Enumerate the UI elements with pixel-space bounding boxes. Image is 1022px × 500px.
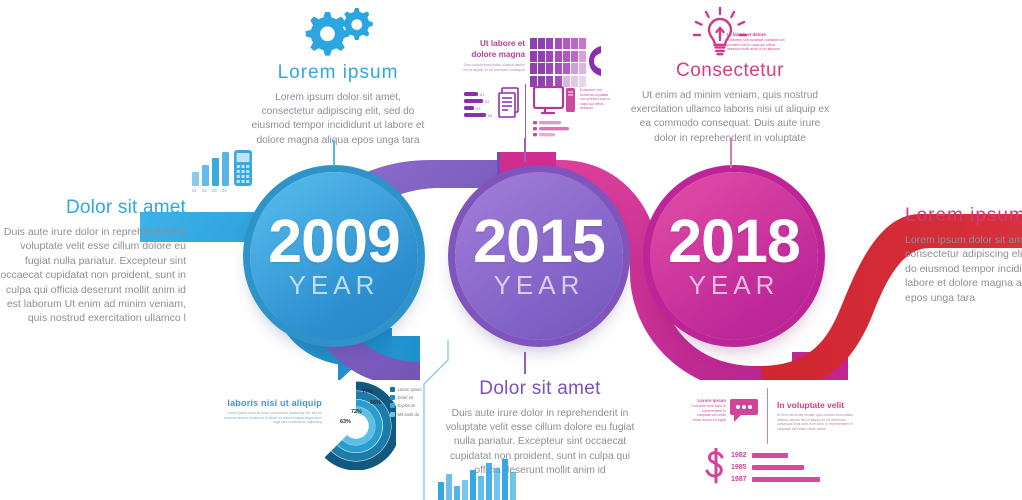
document-icon bbox=[497, 86, 521, 120]
speech-side-micro: Lorem ipsum Duis aute irure dolor in rep… bbox=[688, 398, 726, 422]
legend-label: Dolor sit bbox=[398, 395, 413, 400]
speech-divider bbox=[767, 388, 768, 444]
donut-chart[interactable] bbox=[316, 378, 396, 470]
infographic-canvas: 2009 YEAR 2015 YEAR 2018 YEAR Dolor sit … bbox=[0, 0, 1022, 500]
donut-label-3: 63% bbox=[340, 419, 351, 425]
mini-side-micro-text: Excepteur sint occaecat cupidatat non pr… bbox=[580, 88, 614, 111]
svg-text:01: 01 bbox=[192, 188, 197, 193]
feature-gears: Lorem ipsum Lorem ipsum dolor sit amet, … bbox=[248, 62, 428, 148]
donut-title: laboris nisi ut aliquip bbox=[222, 398, 322, 408]
left-text-block: Dolor sit amet Duis aute irure dolor in … bbox=[0, 197, 186, 326]
milestone-2009[interactable]: 2009 YEAR bbox=[250, 172, 418, 340]
svg-text:01: 01 bbox=[480, 92, 485, 97]
svg-text:02: 02 bbox=[202, 188, 207, 193]
svg-text:02: 02 bbox=[485, 99, 490, 104]
connector-stem-mini bbox=[524, 138, 526, 162]
legend-swatch bbox=[390, 403, 395, 408]
mobile-phone-icon: 01020304 bbox=[190, 148, 260, 194]
money-bar bbox=[752, 477, 820, 482]
money-rows: 1982 1985 1987 bbox=[731, 451, 820, 485]
donut-label-1: 66% bbox=[370, 400, 381, 406]
donut-label-0: 77% bbox=[362, 389, 373, 395]
legend-label: Explorum bbox=[398, 403, 416, 408]
svg-text:04: 04 bbox=[488, 113, 493, 118]
dollar-sign-icon bbox=[705, 448, 727, 492]
svg-text:03: 03 bbox=[212, 188, 217, 193]
feature-gears-title: Lorem ipsum bbox=[248, 62, 428, 84]
milestone-label: YEAR bbox=[289, 270, 380, 301]
bar-list-icon: 01020304 bbox=[462, 88, 494, 120]
phone-handset-icon bbox=[586, 44, 604, 78]
speech-body: Ut enim ad minim veniam quis nostrud exe… bbox=[777, 413, 857, 431]
feature-bottom-title: Dolor sit amet bbox=[440, 378, 640, 400]
legend-item: Explorum bbox=[390, 403, 422, 408]
milestone-label: YEAR bbox=[494, 270, 585, 301]
legend-label: Mit ambi do bbox=[398, 412, 420, 417]
connector-stem-gears bbox=[333, 140, 335, 166]
money-year: 1985 bbox=[731, 463, 747, 473]
left-block-body: Duis aute irure dolor in reprehenderit i… bbox=[0, 225, 186, 326]
svg-text:04: 04 bbox=[222, 188, 227, 193]
milestone-label: YEAR bbox=[689, 270, 780, 301]
milestone-2018[interactable]: 2018 YEAR bbox=[650, 172, 818, 340]
donut-legend: Lorem ipsum Dolor sit Explorum Mit ambi … bbox=[390, 387, 422, 420]
monitor-icon bbox=[533, 86, 577, 116]
gears-icon bbox=[292, 6, 382, 58]
right-block-title: Lorem ipsum bbox=[905, 205, 1022, 227]
feature-lightbulb-title: Consectetur bbox=[630, 60, 830, 82]
right-block-body: Lorem ipsum dolor sit amet, consectetur … bbox=[905, 233, 1022, 305]
feature-gears-body: Lorem ipsum dolor sit amet, consectetur … bbox=[248, 91, 428, 148]
bottom-bar-chart bbox=[436, 458, 522, 500]
money-row: 1982 bbox=[731, 451, 820, 461]
milestone-year: 2015 bbox=[473, 211, 605, 272]
right-text-block: Lorem ipsum Lorem ipsum dolor sit amet, … bbox=[905, 205, 1022, 305]
money-bar bbox=[752, 465, 804, 470]
speech-title: In voluptate velit bbox=[777, 400, 857, 410]
people-grid-icon bbox=[530, 38, 592, 88]
legend-swatch bbox=[390, 395, 395, 400]
connector-stem-bottom bbox=[524, 352, 526, 374]
money-year: 1987 bbox=[731, 475, 747, 485]
feature-lightbulb: Consectetur Ut enim ad minim veniam, qui… bbox=[630, 60, 830, 146]
lightbulb-micro-text: Ut labore et dolore Excepteur sint occae… bbox=[727, 32, 785, 52]
mini-divider bbox=[525, 84, 526, 138]
donut-label-2: 72% bbox=[351, 409, 362, 415]
milestone-2015[interactable]: 2015 YEAR bbox=[455, 172, 623, 340]
svg-text:03: 03 bbox=[476, 106, 481, 111]
milestone-year: 2009 bbox=[268, 211, 400, 272]
connector-stem-lightbulb bbox=[730, 138, 732, 168]
speech-bubble-icon bbox=[729, 398, 759, 424]
speech-text-block: In voluptate velit Ut enim ad minim veni… bbox=[777, 400, 857, 431]
money-row: 1985 bbox=[731, 463, 820, 473]
mini-people-heading: Ut labore et dolore magna Duis nostrud e… bbox=[463, 38, 525, 72]
left-block-title: Dolor sit amet bbox=[0, 197, 186, 219]
legend-item: Mit ambi do bbox=[390, 412, 422, 417]
donut-body: Lorem ipsum dolor sit amet, consectetur … bbox=[222, 411, 322, 425]
legend-swatch bbox=[390, 387, 395, 392]
legend-item: Dolor sit bbox=[390, 395, 422, 400]
money-row: 1987 bbox=[731, 475, 820, 485]
money-year: 1982 bbox=[731, 451, 747, 461]
money-bar bbox=[752, 453, 788, 458]
legend-item: Lorem ipsum bbox=[390, 387, 422, 392]
milestone-year: 2018 bbox=[668, 211, 800, 272]
donut-text-block: laboris nisi ut aliquip Lorem ipsum dolo… bbox=[222, 398, 322, 425]
bar-rows-icon bbox=[533, 120, 577, 138]
legend-swatch bbox=[390, 412, 395, 417]
